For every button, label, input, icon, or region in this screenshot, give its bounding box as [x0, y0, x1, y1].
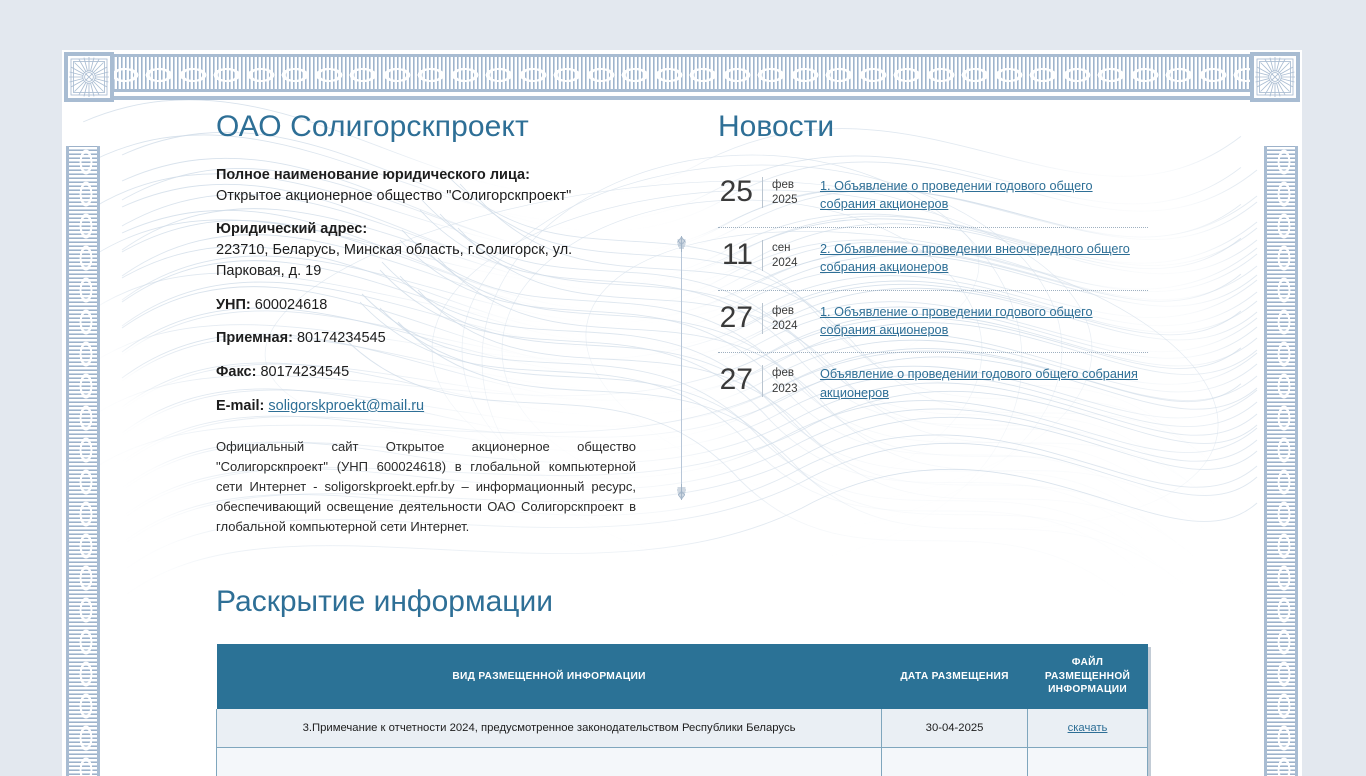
- news-day: 27: [718, 303, 762, 333]
- news-year: 2024: [772, 319, 808, 334]
- news-day: 27: [718, 365, 762, 395]
- info-legal-address-value: 223710, Беларусь, Минская область, г.Сол…: [216, 242, 572, 279]
- column-header-date: ДАТА РАЗМЕЩЕНИЯ: [882, 644, 1028, 708]
- two-column-layout: ОАО Солигорскпроект Полное наименование …: [216, 110, 1148, 537]
- news-month-year: фев 2024: [762, 303, 808, 334]
- news-month: фев: [772, 366, 808, 381]
- news-month: фев: [772, 304, 808, 319]
- news-list-item[interactable]: 11 сен 2024 2. Объявление о проведении в…: [718, 227, 1148, 290]
- cell-kind: 3.Примечание к отчетности 2024, предусмо…: [217, 709, 882, 748]
- border-band-left: [66, 146, 100, 776]
- news-title-cell: 1. Объявление о проведении годового обще…: [808, 303, 1148, 340]
- info-legal-address-label: Юридический адрес:: [216, 219, 636, 240]
- page-content: ОАО Солигорскпроект Полное наименование …: [216, 110, 1148, 770]
- news-headline-link[interactable]: Объявление о проведении годового общего …: [820, 367, 1138, 399]
- border-band-top: [108, 54, 1256, 92]
- info-full-name: Полное наименование юридического лица: О…: [216, 165, 636, 206]
- info-reception-label: Приемная:: [216, 330, 293, 346]
- organization-column: ОАО Солигорскпроект Полное наименование …: [216, 110, 644, 537]
- cell-file: скачать: [1028, 709, 1148, 748]
- news-headline-link[interactable]: 1. Объявление о проведении годового обще…: [820, 305, 1093, 337]
- news-list-item[interactable]: 27 фев 2023 Объявление о проведении годо…: [718, 352, 1148, 415]
- news-headline-link[interactable]: 1. Объявление о проведении годового обще…: [820, 179, 1093, 211]
- table-row: 3.Примечание к отчетности 2024, предусмо…: [217, 709, 1148, 748]
- news-month-year: сен 2024: [762, 240, 808, 271]
- news-month-year: фев 2025: [762, 177, 808, 208]
- cell-kind: [217, 747, 882, 776]
- info-email-label: E-mail:: [216, 398, 264, 414]
- disclosure-section: Раскрытие информации ВИД РАЗМЕЩЕННОЙ ИНФ…: [216, 585, 1148, 776]
- email-link[interactable]: soligorskproekt@mail.ru: [268, 398, 424, 414]
- cell-date: [882, 747, 1028, 776]
- news-day: 11: [718, 240, 762, 270]
- info-full-name-value: Открытое акционерное общество "Солигорск…: [216, 188, 571, 204]
- info-unp-value: 600024618: [255, 297, 328, 313]
- table-header-row: ВИД РАЗМЕЩЕННОЙ ИНФОРМАЦИИ ДАТА РАЗМЕЩЕН…: [217, 644, 1148, 708]
- download-link[interactable]: скачать: [1068, 722, 1108, 734]
- news-list-item[interactable]: 27 фев 2024 1. Объявление о проведении г…: [718, 290, 1148, 353]
- info-reception: Приемная: 80174234545: [216, 328, 636, 349]
- news-year: 2024: [772, 256, 808, 271]
- news-year: 2023: [772, 382, 808, 397]
- disclosure-section-title: Раскрытие информации: [216, 585, 1148, 618]
- corner-rosette-icon-top-left: [64, 52, 114, 102]
- vertical-rule: [681, 243, 682, 493]
- site-description: Официальный сайт Открытое акционерное об…: [216, 437, 636, 538]
- news-list-item[interactable]: 25 фев 2025 1. Объявление о проведении г…: [718, 165, 1148, 227]
- border-rule-top: [108, 96, 1256, 100]
- info-unp: УНП: 600024618: [216, 295, 636, 316]
- cell-file: [1028, 747, 1148, 776]
- info-reception-value: 80174234545: [297, 330, 386, 346]
- info-legal-address: Юридический адрес: 223710, Беларусь, Мин…: [216, 219, 636, 281]
- news-month: фев: [772, 178, 808, 193]
- table-row: [217, 747, 1148, 776]
- column-header-kind: ВИД РАЗМЕЩЕННОЙ ИНФОРМАЦИИ: [217, 644, 882, 708]
- page-title: ОАО Солигорскпроект: [216, 110, 636, 143]
- corner-rosette-icon-top-right: [1250, 52, 1300, 102]
- cell-date: 30-04-2025: [882, 709, 1028, 748]
- news-title-cell: 1. Объявление о проведении годового обще…: [808, 177, 1148, 214]
- info-fax: Факс: 80174234545: [216, 362, 636, 383]
- news-month: сен: [772, 241, 808, 256]
- news-month-year: фев 2023: [762, 365, 808, 396]
- news-title-cell: Объявление о проведении годового общего …: [808, 365, 1148, 402]
- news-headline-link[interactable]: 2. Объявление о проведении внеочередного…: [820, 242, 1130, 274]
- divider-ornament-bottom-icon: [675, 484, 688, 500]
- disclosure-table-wrap: ВИД РАЗМЕЩЕННОЙ ИНФОРМАЦИИ ДАТА РАЗМЕЩЕН…: [216, 644, 1148, 776]
- news-day: 25: [718, 177, 762, 207]
- news-title-cell: 2. Объявление о проведении внеочередного…: [808, 240, 1148, 277]
- column-header-file: ФАЙЛ РАЗМЕЩЕННОЙ ИНФОРМАЦИИ: [1028, 644, 1148, 708]
- news-year: 2025: [772, 193, 808, 208]
- info-fax-value: 80174234545: [260, 364, 349, 380]
- disclosure-table: ВИД РАЗМЕЩЕННОЙ ИНФОРМАЦИИ ДАТА РАЗМЕЩЕН…: [216, 644, 1148, 776]
- document-sheet: ОАО Солигорскпроект Полное наименование …: [62, 50, 1302, 776]
- info-email: E-mail: soligorskproekt@mail.ru: [216, 396, 636, 417]
- info-full-name-label: Полное наименование юридического лица:: [216, 165, 636, 186]
- info-fax-label: Факс:: [216, 364, 256, 380]
- news-section-title: Новости: [718, 110, 1148, 143]
- border-band-right: [1264, 146, 1298, 776]
- news-column: Новости 25 фев 2025 1. Объявление о пров…: [718, 110, 1148, 537]
- divider-ornament-top-icon: [675, 236, 688, 252]
- info-unp-label: УНП:: [216, 297, 251, 313]
- column-divider: [644, 110, 718, 537]
